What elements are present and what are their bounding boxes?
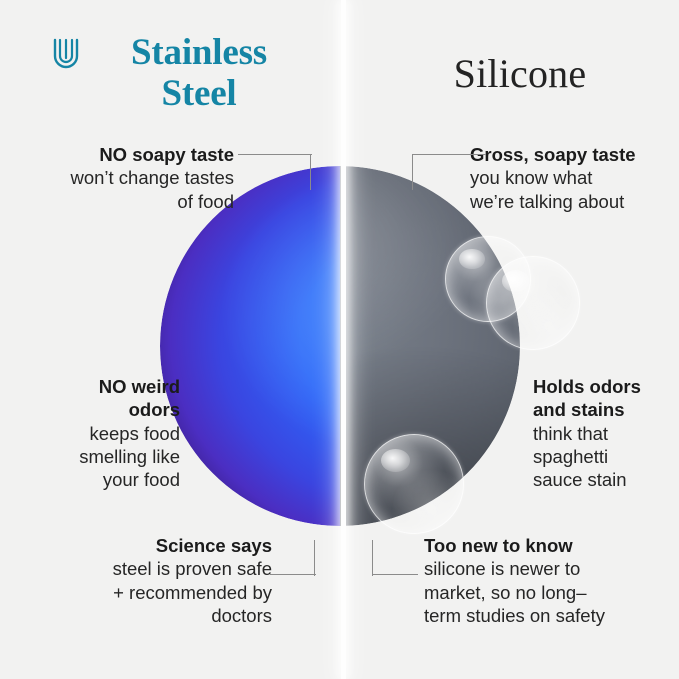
vertical-divider	[341, 0, 346, 679]
brand-title: StainlessSteel	[86, 32, 312, 115]
feature-detail-line: keeps food	[40, 422, 180, 445]
feature-detail-line: silicone is newer to	[424, 557, 654, 580]
feature-detail-line: think that	[533, 422, 673, 445]
connector-line-silicone-safety	[372, 540, 418, 576]
feature-headline: Too new to know	[424, 534, 654, 557]
feature-steel-odors: NO weird odors keeps food smelling like …	[40, 375, 180, 491]
feature-detail-line: won’t change tastes	[18, 166, 234, 189]
feature-headline: NO soapy taste	[18, 143, 234, 166]
feature-silicone-taste: Gross, soapy taste you know what we’re t…	[470, 143, 670, 213]
comparison-infographic: StainlessSteel Silicone NO soapy taste w…	[0, 0, 679, 679]
brand-title-line-1: Stainless	[131, 32, 267, 73]
feature-silicone-odors: Holds odors and stains think that spaghe…	[533, 375, 673, 491]
stainless-u-mark-icon	[52, 38, 80, 75]
stainless-steel-header: StainlessSteel	[52, 32, 312, 115]
feature-steel-science: Science says steel is proven safe + reco…	[82, 534, 272, 627]
soap-bubble-icon	[364, 434, 464, 534]
feature-headline: and stains	[533, 398, 673, 421]
connector-line-steel-science	[270, 540, 316, 576]
connector-line-steel-taste	[238, 154, 312, 190]
feature-headline: Holds odors	[533, 375, 673, 398]
feature-detail-line: your food	[40, 468, 180, 491]
feature-headline: NO weird	[40, 375, 180, 398]
feature-silicone-safety: Too new to know silicone is newer to mar…	[424, 534, 654, 627]
feature-detail-line: market, so no long–	[424, 581, 654, 604]
feature-detail-line: + recommended by	[82, 581, 272, 604]
feature-detail-line: steel is proven safe	[82, 557, 272, 580]
connector-line-silicone-taste	[412, 154, 486, 190]
product-split-bowl-image	[160, 166, 520, 526]
silicone-header: Silicone	[400, 50, 640, 97]
feature-detail-line: doctors	[82, 604, 272, 627]
feature-detail-line: spaghetti	[533, 445, 673, 468]
feature-detail-line: we’re talking about	[470, 190, 670, 213]
bowl-half-stainless-steel	[160, 166, 340, 526]
feature-detail-line: smelling like	[40, 445, 180, 468]
soap-bubble-icon	[486, 256, 580, 350]
feature-steel-taste: NO soapy taste won’t change tastes of fo…	[18, 143, 234, 213]
feature-detail-line: sauce stain	[533, 468, 673, 491]
feature-headline: Gross, soapy taste	[470, 143, 670, 166]
feature-detail-line: of food	[18, 190, 234, 213]
feature-headline: Science says	[82, 534, 272, 557]
bowl-body	[160, 166, 520, 526]
brand-title-line-2: Steel	[161, 73, 236, 114]
feature-detail-line: you know what	[470, 166, 670, 189]
feature-headline: odors	[40, 398, 180, 421]
feature-detail-line: term studies on safety	[424, 604, 654, 627]
